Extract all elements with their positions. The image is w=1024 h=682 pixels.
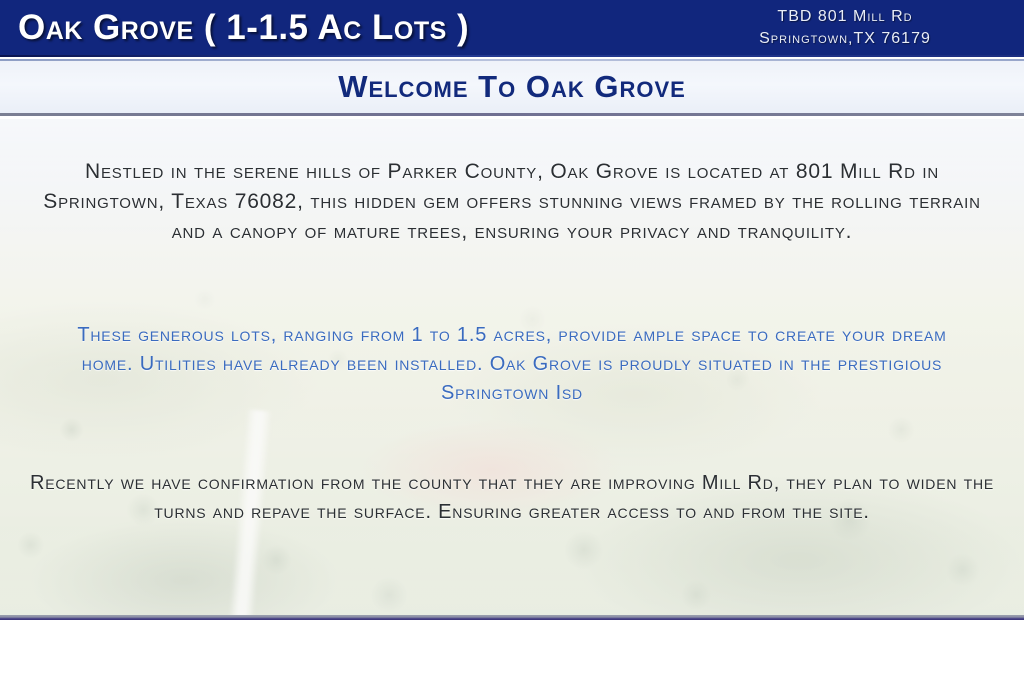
paragraph-road-block: Recently we have confirmation from the c… bbox=[0, 469, 1024, 527]
page-title: Oak Grove ( 1-1.5 Ac Lots ) bbox=[18, 4, 469, 52]
paragraph-intro-block: Nestled in the serene hills of Parker Co… bbox=[0, 157, 1024, 247]
listing-flyer-page: Oak Grove ( 1-1.5 Ac Lots ) TBD 801 Mill… bbox=[0, 0, 1024, 682]
address-line-1: TBD 801 Mill Rd bbox=[680, 6, 1010, 28]
paragraph-lots-text: These generous lots, ranging from 1 to 1… bbox=[58, 321, 966, 408]
paragraph-intro-text: Nestled in the serene hills of Parker Co… bbox=[34, 157, 990, 247]
welcome-heading: Welcome To Oak Grove bbox=[0, 65, 1024, 109]
paragraph-lots-block: These generous lots, ranging from 1 to 1… bbox=[0, 321, 1024, 408]
aerial-photo-section: Nestled in the serene hills of Parker Co… bbox=[0, 119, 1024, 620]
property-address: TBD 801 Mill Rd Springtown,TX 76179 bbox=[680, 6, 1010, 50]
footer-area bbox=[0, 625, 1024, 682]
paragraph-road-text: Recently we have confirmation from the c… bbox=[26, 469, 998, 527]
address-line-2: Springtown,TX 76179 bbox=[680, 28, 1010, 50]
header-bar: Oak Grove ( 1-1.5 Ac Lots ) TBD 801 Mill… bbox=[0, 0, 1024, 57]
welcome-band: Welcome To Oak Grove bbox=[0, 59, 1024, 116]
